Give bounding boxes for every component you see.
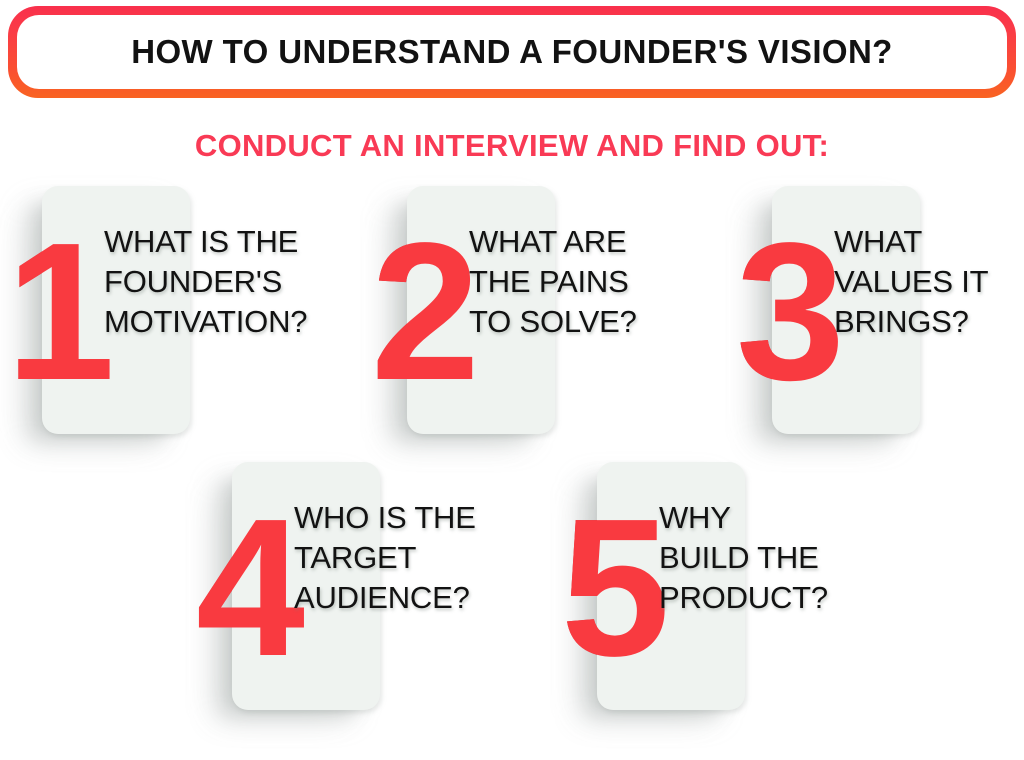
step-text-line: VALUES IT <box>834 262 1024 302</box>
step-text-4: WHO IS THE TARGET AUDIENCE? <box>294 498 539 618</box>
page-title: HOW TO UNDERSTAND A FOUNDER'S VISION? <box>131 33 893 71</box>
step-card-4: 4 4 WHO IS THE TARGET AUDIENCE? <box>232 462 380 710</box>
step-number-3: 3 <box>736 214 845 410</box>
step-text-line: AUDIENCE? <box>294 578 539 618</box>
step-text-line: THE PAINS <box>469 262 714 302</box>
step-text-1: WHAT IS THE FOUNDER'S MOTIVATION? <box>104 222 349 342</box>
step-text-line: WHAT IS THE <box>104 222 349 262</box>
step-text-line: BRINGS? <box>834 302 1024 342</box>
step-text-line: TO SOLVE? <box>469 302 714 342</box>
step-text-line: WHAT ARE <box>469 222 714 262</box>
step-number-4: 4 <box>196 490 305 686</box>
step-text-3: WHAT VALUES IT BRINGS? <box>834 222 1024 342</box>
step-number-1: 1 <box>6 214 115 410</box>
step-text-2: WHAT ARE THE PAINS TO SOLVE? <box>469 222 714 342</box>
step-text-line: WHY <box>659 498 904 538</box>
step-card-3: 3 3 WHAT VALUES IT BRINGS? <box>772 186 920 434</box>
step-text-5: WHY BUILD THE PRODUCT? <box>659 498 904 618</box>
step-text-line: MOTIVATION? <box>104 302 349 342</box>
subtitle: CONDUCT AN INTERVIEW AND FIND OUT: <box>0 128 1024 164</box>
step-text-line: PRODUCT? <box>659 578 904 618</box>
step-text-line: WHAT <box>834 222 1024 262</box>
step-text-line: TARGET <box>294 538 539 578</box>
step-number-2: 2 <box>371 214 480 410</box>
step-text-line: WHO IS THE <box>294 498 539 538</box>
step-number-5: 5 <box>561 490 670 686</box>
step-card-5: 5 5 WHY BUILD THE PRODUCT? <box>597 462 745 710</box>
title-banner: HOW TO UNDERSTAND A FOUNDER'S VISION? <box>8 6 1016 98</box>
title-banner-inner: HOW TO UNDERSTAND A FOUNDER'S VISION? <box>17 15 1007 89</box>
step-card-1: 1 1 WHAT IS THE FOUNDER'S MOTIVATION? <box>42 186 190 434</box>
step-card-2: 2 2 WHAT ARE THE PAINS TO SOLVE? <box>407 186 555 434</box>
step-text-line: BUILD THE <box>659 538 904 578</box>
step-text-line: FOUNDER'S <box>104 262 349 302</box>
